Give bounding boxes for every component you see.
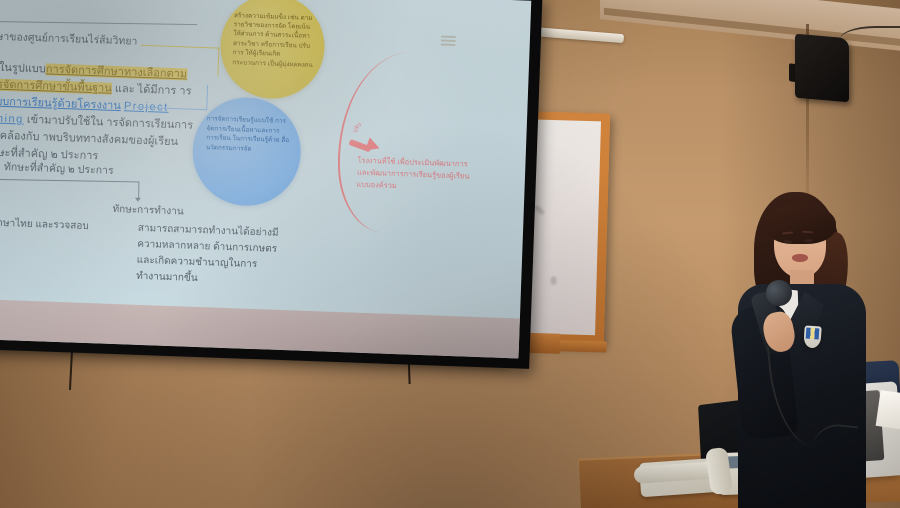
eye-left	[783, 240, 792, 243]
skills-heading: ทักษะที่สำคัญ ๒ ประการ	[4, 158, 114, 179]
projector-screen: รศึกษา การจัดการศึกษาของศูนย์การเรียนไร่…	[0, 0, 543, 369]
speaker-cable	[840, 26, 900, 48]
yellow-bubble: สร้างความเข้มแข็ง เช่น ตามรายวิชาของการจ…	[219, 0, 327, 100]
blue-bubble: การจัดการเรียนรู้แบบใช้ การจัดการเรียนเน…	[191, 96, 303, 208]
connector-to-yellow-bubble	[139, 45, 219, 77]
paragraph-seg-1: ารจัดการศึกษาในรูปแบบ	[0, 59, 46, 75]
pink-annotation-note: โรงงานที่ใช้ เพื่อประเมินพัฒนาการ และพัฒ…	[356, 155, 479, 195]
paragraph-seg-4: เข้ามาปรับใช้ใน	[24, 114, 104, 129]
whiteboard-smudge	[550, 276, 556, 285]
slide-title: รศึกษา	[0, 0, 1, 18]
badge-crest-stripes	[806, 328, 820, 340]
skill-column-2-heading: ทักษะการทำงาน	[112, 202, 184, 220]
slide-subtitle: การจัดการศึกษาของศูนย์การเรียนไร่ส้มวิทย…	[0, 25, 138, 49]
yellow-bubble-text: สร้างความเข้มแข็ง เช่น ตามรายวิชาของการจ…	[232, 11, 315, 70]
projector-screen-surface: รศึกษา การจัดการศึกษาของศูนย์การเรียนไร่…	[0, 0, 531, 359]
title-divider	[0, 20, 197, 25]
presenter	[716, 188, 891, 508]
paragraph-blue-link-1[interactable]: แบบการเรียนรู้ด้วยโครงงาน	[0, 95, 121, 112]
eye-right	[804, 239, 813, 242]
wall-speaker	[795, 34, 849, 103]
hair-fringe	[766, 204, 836, 244]
blue-bubble-text: การจัดการเรียนรู้แบบใช้ การจัดการเรียนเน…	[206, 115, 292, 156]
bracket-arrow-right-icon	[135, 198, 141, 202]
connector-to-blue-bubble	[136, 83, 208, 111]
mouth	[792, 254, 808, 262]
skill-column-1-body: พูด อ่าน เขียน ภาษาไทย และรวจสอบ แรได้	[0, 213, 128, 252]
classroom-photo: รศึกษา การจัดการศึกษาของศูนย์การเรียนไร่…	[0, 0, 900, 508]
skills-bracket	[0, 179, 139, 199]
skill-column-2-body: สามารถสามารถทำงานได้อย่างมี ความหลากหลาย…	[136, 221, 290, 290]
hamburger-icon[interactable]	[441, 36, 456, 49]
whiteboard-smudge	[533, 204, 545, 216]
